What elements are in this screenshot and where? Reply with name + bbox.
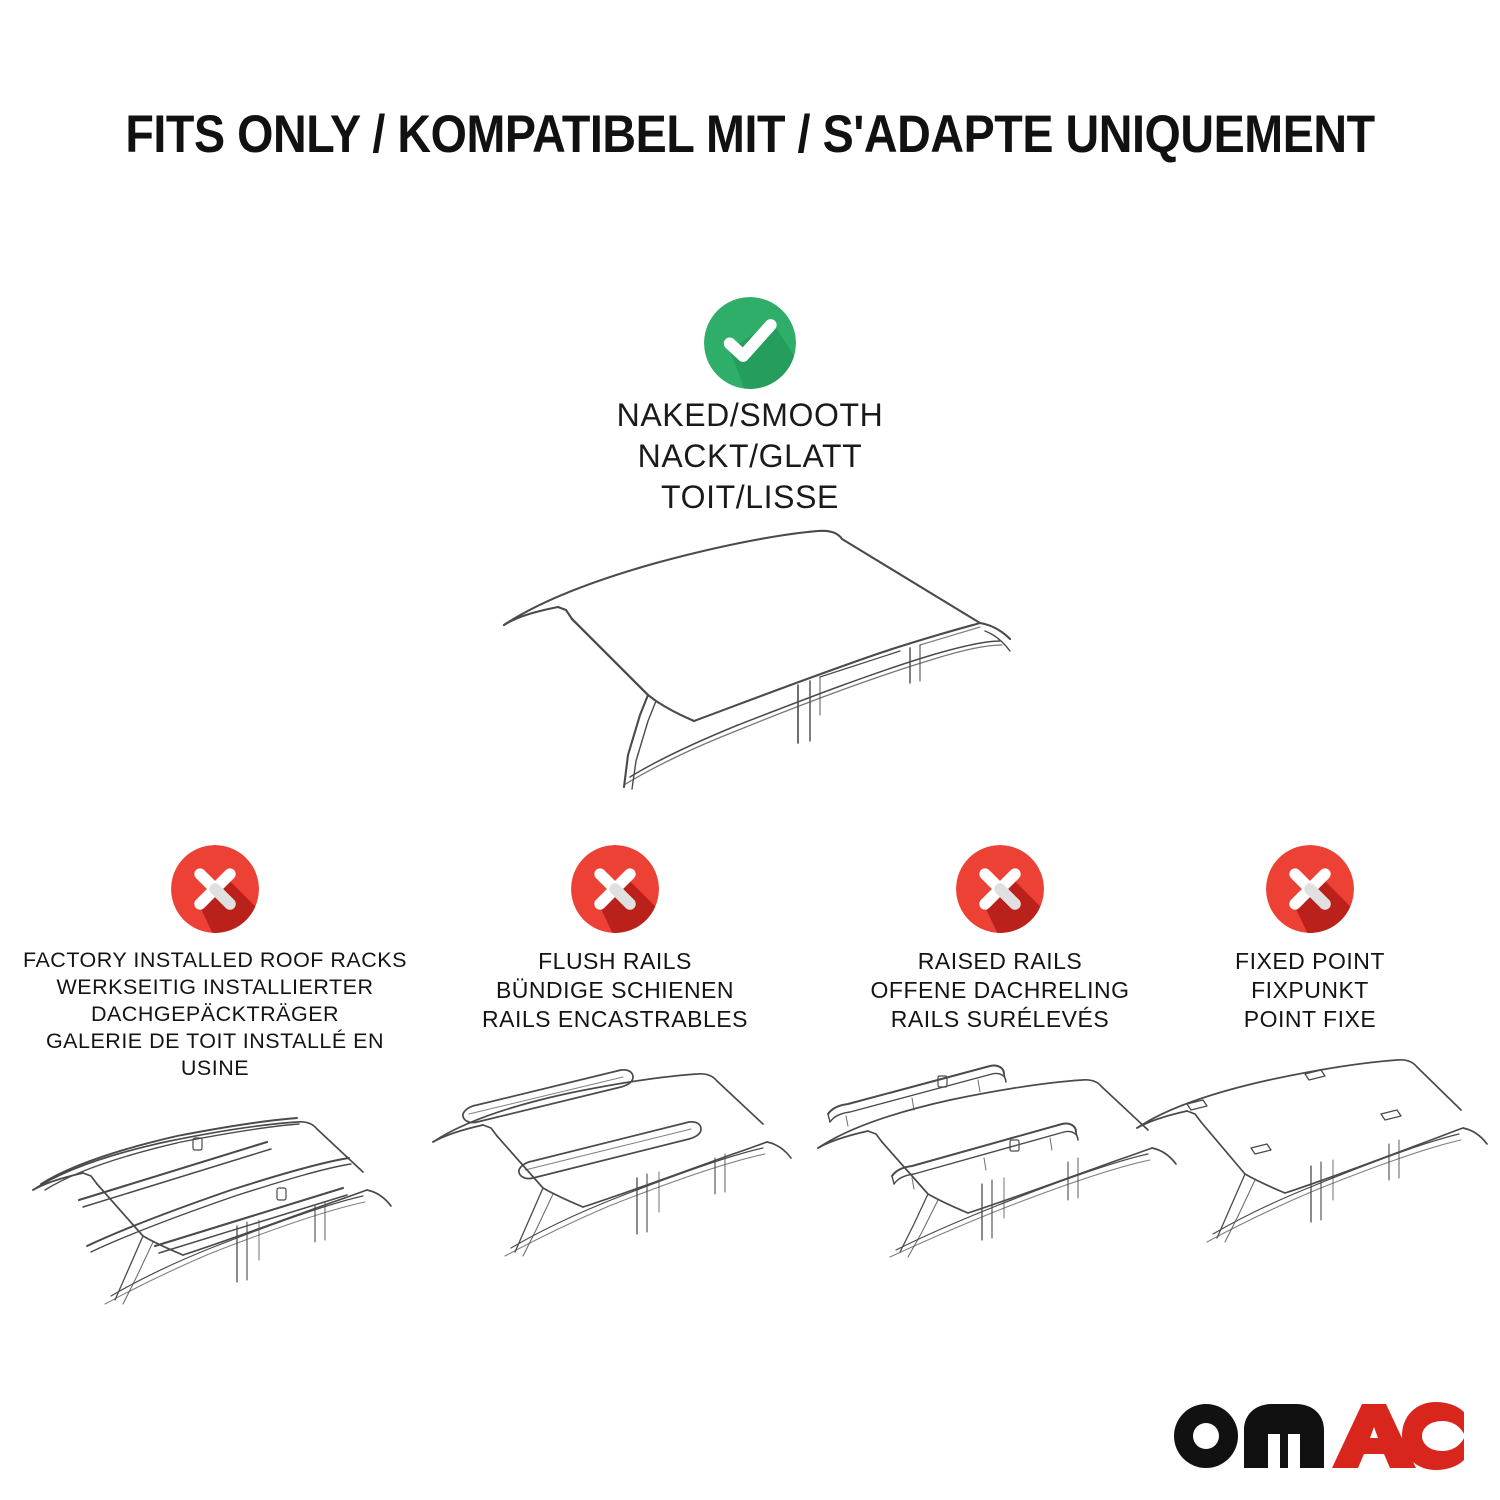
incompatible-label-en: FLUSH RAILS: [415, 947, 815, 976]
incompatible-label-en: FIXED POINT: [1125, 947, 1495, 976]
incompatible-label-de-2: DACHGEPÄCKTRÄGER: [15, 1001, 415, 1028]
omac-logo-letter-o: [1174, 1404, 1238, 1468]
incompatible-label: FLUSH RAILS BÜNDIGE SCHIENEN RAILS ENCAS…: [415, 947, 815, 1034]
check-circle-icon: [704, 297, 796, 389]
omac-logo: [1164, 1394, 1464, 1472]
page-title: FITS ONLY / KOMPATIBEL MIT / S'ADAPTE UN…: [90, 104, 1410, 165]
incompatible-label: FIXED POINT FIXPUNKT POINT FIXE: [1125, 947, 1495, 1034]
incompatible-label-fr: GALERIE DE TOIT INSTALLÉ EN USINE: [15, 1028, 415, 1082]
factory-roof-rack-illustration: [15, 1100, 415, 1310]
incompatible-item-flush-rails: FLUSH RAILS BÜNDIGE SCHIENEN RAILS ENCAS…: [415, 845, 815, 1262]
cross-circle-icon: [1266, 845, 1354, 933]
smooth-roof-illustration: [480, 515, 1040, 805]
incompatible-label-en: FACTORY INSTALLED ROOF RACKS: [15, 947, 415, 974]
compatible-label-en: NAKED/SMOOTH: [0, 395, 1500, 436]
badge-wrap: [15, 845, 415, 937]
incompatible-label-fr: POINT FIXE: [1125, 1005, 1495, 1034]
infographic-page: FITS ONLY / KOMPATIBEL MIT / S'ADAPTE UN…: [0, 0, 1500, 1500]
badge-wrap: [1125, 845, 1495, 937]
incompatible-label-de-1: WERKSEITIG INSTALLIERTER: [15, 974, 415, 1001]
incompatible-item-fixed-point: FIXED POINT FIXPUNKT POINT FIXE: [1125, 845, 1495, 1262]
omac-logo-letter-m: [1244, 1404, 1324, 1468]
incompatible-item-factory-roof-racks: FACTORY INSTALLED ROOF RACKS WERKSEITIG …: [15, 845, 415, 1310]
cross-circle-icon: [571, 845, 659, 933]
cross-circle-icon: [171, 845, 259, 933]
cross-circle-icon: [956, 845, 1044, 933]
fixed-point-illustration: [1125, 1052, 1495, 1262]
compatible-label-de: NACKT/GLATT: [0, 436, 1500, 477]
omac-logo-letter-c: [1402, 1402, 1464, 1470]
badge-wrap: [415, 845, 815, 937]
incompatible-label: FACTORY INSTALLED ROOF RACKS WERKSEITIG …: [15, 947, 415, 1082]
compatible-label-fr: TOIT/LISSE: [0, 477, 1500, 518]
flush-rails-illustration: [415, 1052, 815, 1262]
incompatible-label-de-1: BÜNDIGE SCHIENEN: [415, 976, 815, 1005]
incompatible-label-fr: RAILS ENCASTRABLES: [415, 1005, 815, 1034]
incompatible-label-de-1: FIXPUNKT: [1125, 976, 1495, 1005]
compatible-label: NAKED/SMOOTH NACKT/GLATT TOIT/LISSE: [0, 395, 1500, 518]
